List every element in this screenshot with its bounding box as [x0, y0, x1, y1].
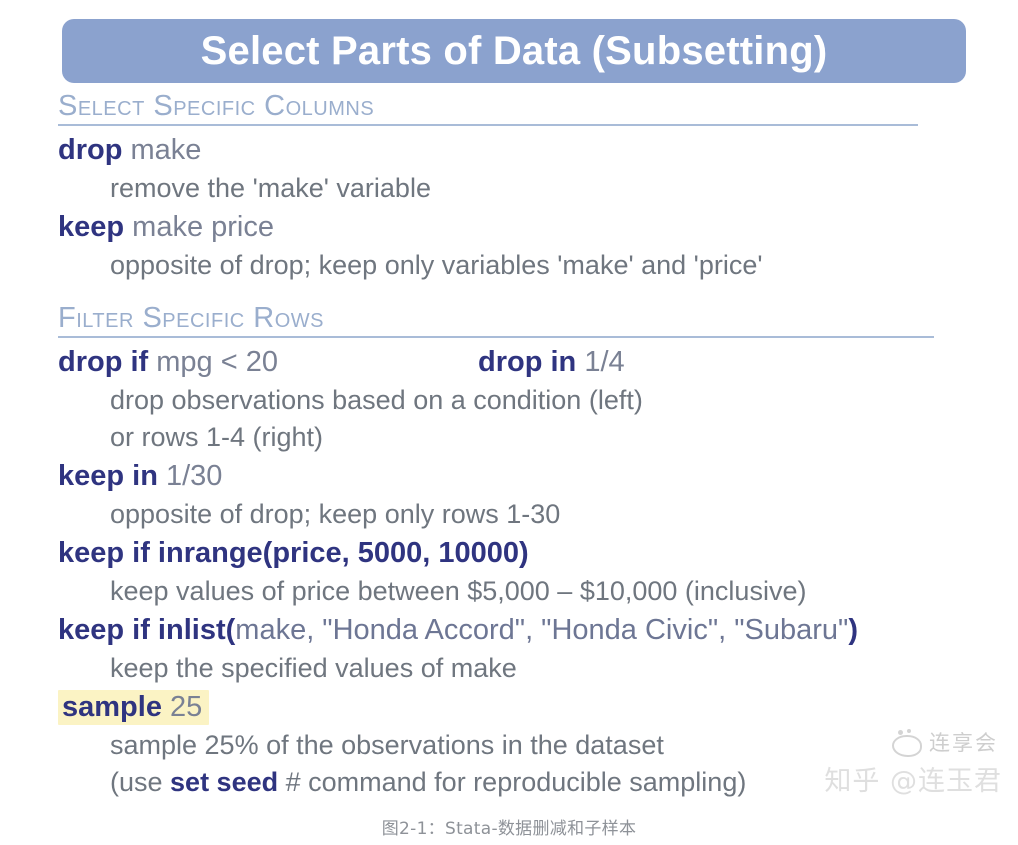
- command-description: keep values of price between $5,000 – $1…: [58, 573, 978, 610]
- command-keyword: sample: [62, 691, 162, 723]
- paren-close: ): [848, 614, 858, 646]
- command-args: 25: [162, 691, 202, 723]
- command-description: opposite of drop; keep only rows 1-30: [58, 496, 978, 533]
- command-keyword: keep in: [58, 460, 158, 492]
- title-banner: Select Parts of Data (Subsetting): [62, 19, 966, 83]
- command-args: make price: [124, 211, 274, 243]
- slide-content: Select Specific Columns drop make remove…: [58, 92, 978, 801]
- command-keyword: drop in: [478, 346, 576, 378]
- paren-open: (: [226, 614, 236, 646]
- command-keep-if-inlist: keep if inlist(make, "Honda Accord", "Ho…: [58, 611, 978, 650]
- command-sample: sample 25: [58, 688, 978, 727]
- command-description: remove the 'make' variable: [58, 170, 978, 207]
- command-description: opposite of drop; keep only variables 'm…: [58, 247, 978, 284]
- command-args: mpg < 20: [148, 346, 278, 378]
- command-description-line2: (use set seed # command for reproducible…: [58, 764, 978, 801]
- page-title: Select Parts of Data (Subsetting): [201, 31, 828, 71]
- command-description: drop observations based on a condition (…: [58, 382, 978, 419]
- command-keyword: keep if inrange(price, 5000, 10000): [58, 537, 529, 569]
- command-drop-if: drop if mpg < 20: [58, 343, 478, 382]
- desc-prefix: (use: [110, 767, 170, 797]
- command-args: 1/4: [576, 346, 624, 378]
- command-keyword: drop: [58, 134, 122, 166]
- command-args: make, "Honda Accord", "Honda Civic", "Su…: [235, 614, 848, 646]
- command-drop-in: drop in 1/4: [478, 343, 625, 382]
- desc-suffix: # command for reproducible sampling): [278, 767, 746, 797]
- command-args: 1/30: [158, 460, 223, 492]
- command-args: make: [122, 134, 201, 166]
- slide-root: Select Parts of Data (Subsetting) Select…: [0, 0, 1018, 845]
- command-keep-make-price: keep make price: [58, 208, 978, 247]
- highlighted-command: sample 25: [58, 690, 209, 725]
- command-drop-make: drop make: [58, 131, 978, 170]
- command-description-line2: or rows 1-4 (right): [58, 419, 978, 456]
- command-keyword: drop if: [58, 346, 148, 378]
- command-drop-if-drop-in: drop if mpg < 20 drop in 1/4: [58, 343, 978, 382]
- command-keep-if-inrange: keep if inrange(price, 5000, 10000): [58, 534, 978, 573]
- inline-keyword-set-seed: set seed: [170, 767, 278, 797]
- section-header-filter-specific-rows: Filter Specific Rows: [58, 304, 934, 338]
- command-keyword: keep if inlist: [58, 614, 226, 646]
- section-header-select-specific-columns: Select Specific Columns: [58, 92, 918, 126]
- figure-caption: 图2-1：Stata-数据删减和子样本: [0, 814, 1018, 839]
- command-keyword: keep: [58, 211, 124, 243]
- command-keep-in: keep in 1/30: [58, 457, 978, 496]
- command-description: sample 25% of the observations in the da…: [58, 727, 978, 764]
- command-description: keep the specified values of make: [58, 650, 978, 687]
